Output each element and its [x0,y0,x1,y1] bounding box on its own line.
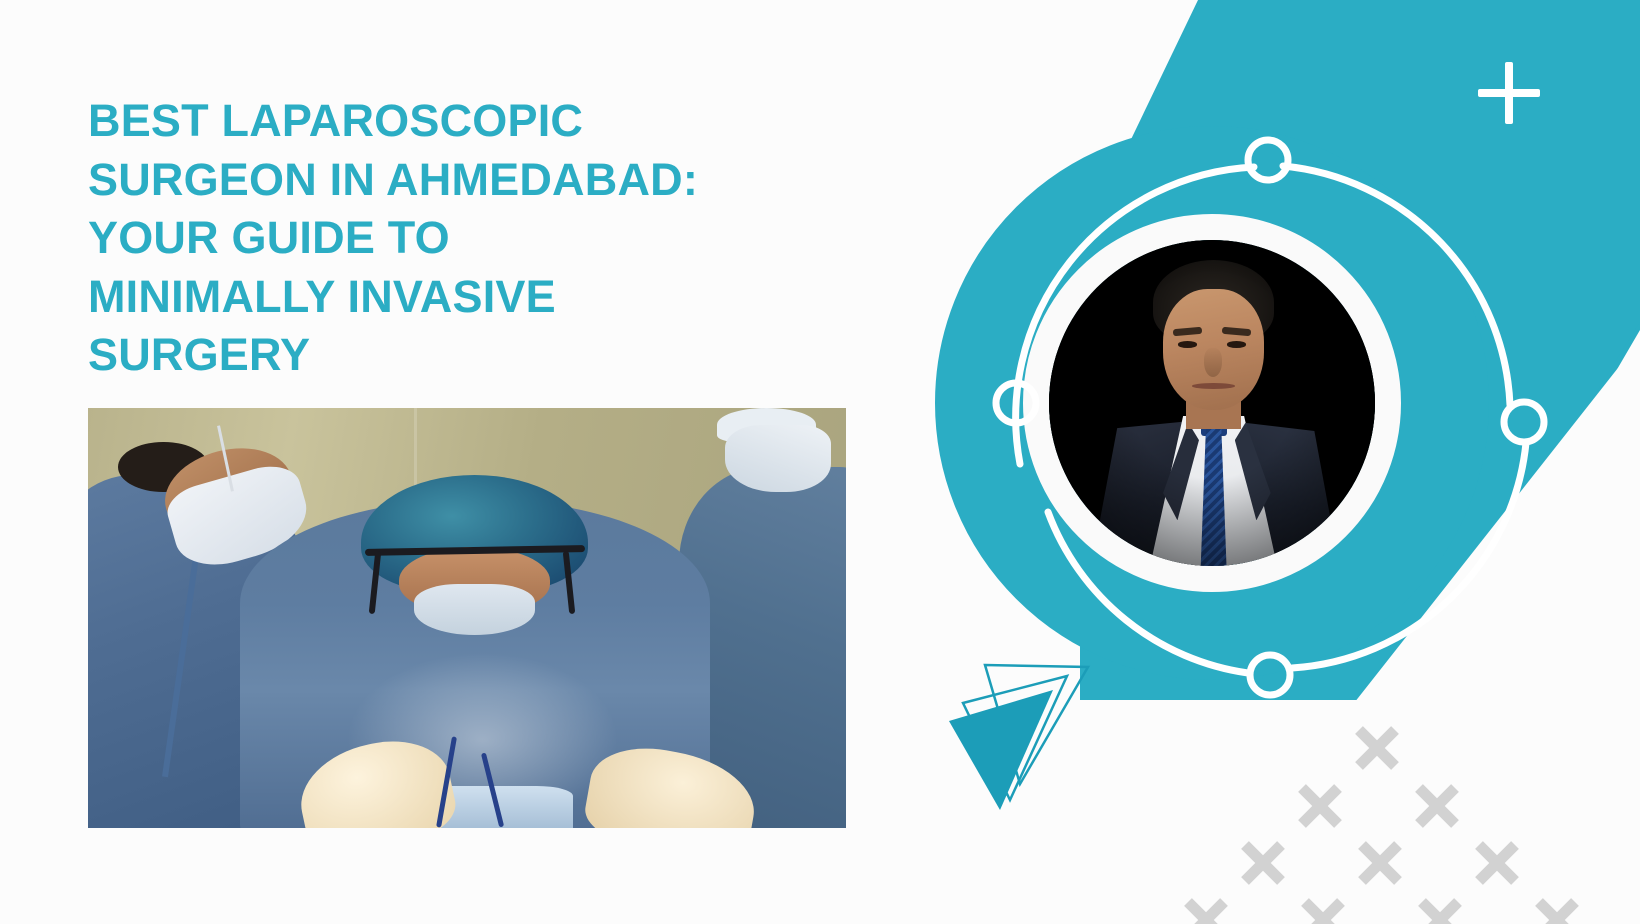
portrait-vignette [1049,240,1375,566]
assistant-right-mask [725,425,831,492]
headline-line-1: BEST LAPAROSCOPIC [88,92,858,151]
surgery-photo-content [88,408,846,828]
doctor-portrait-photo [1049,240,1375,566]
headline-line-4: MINIMALLY INVASIVE [88,268,858,327]
headline-block: BEST LAPAROSCOPIC SURGEON IN AHMEDABAD: … [88,92,848,385]
page-title: BEST LAPAROSCOPIC SURGEON IN AHMEDABAD: … [88,92,858,385]
surgeon-mask [414,584,535,634]
headline-line-3: YOUR GUIDE TO [88,209,858,268]
headline-line-5: SURGERY [88,326,858,385]
surgery-operating-room-photo [88,408,846,828]
page-canvas: BEST LAPAROSCOPIC SURGEON IN AHMEDABAD: … [0,0,1640,924]
headline-line-2: SURGEON IN AHMEDABAD: [88,151,858,210]
